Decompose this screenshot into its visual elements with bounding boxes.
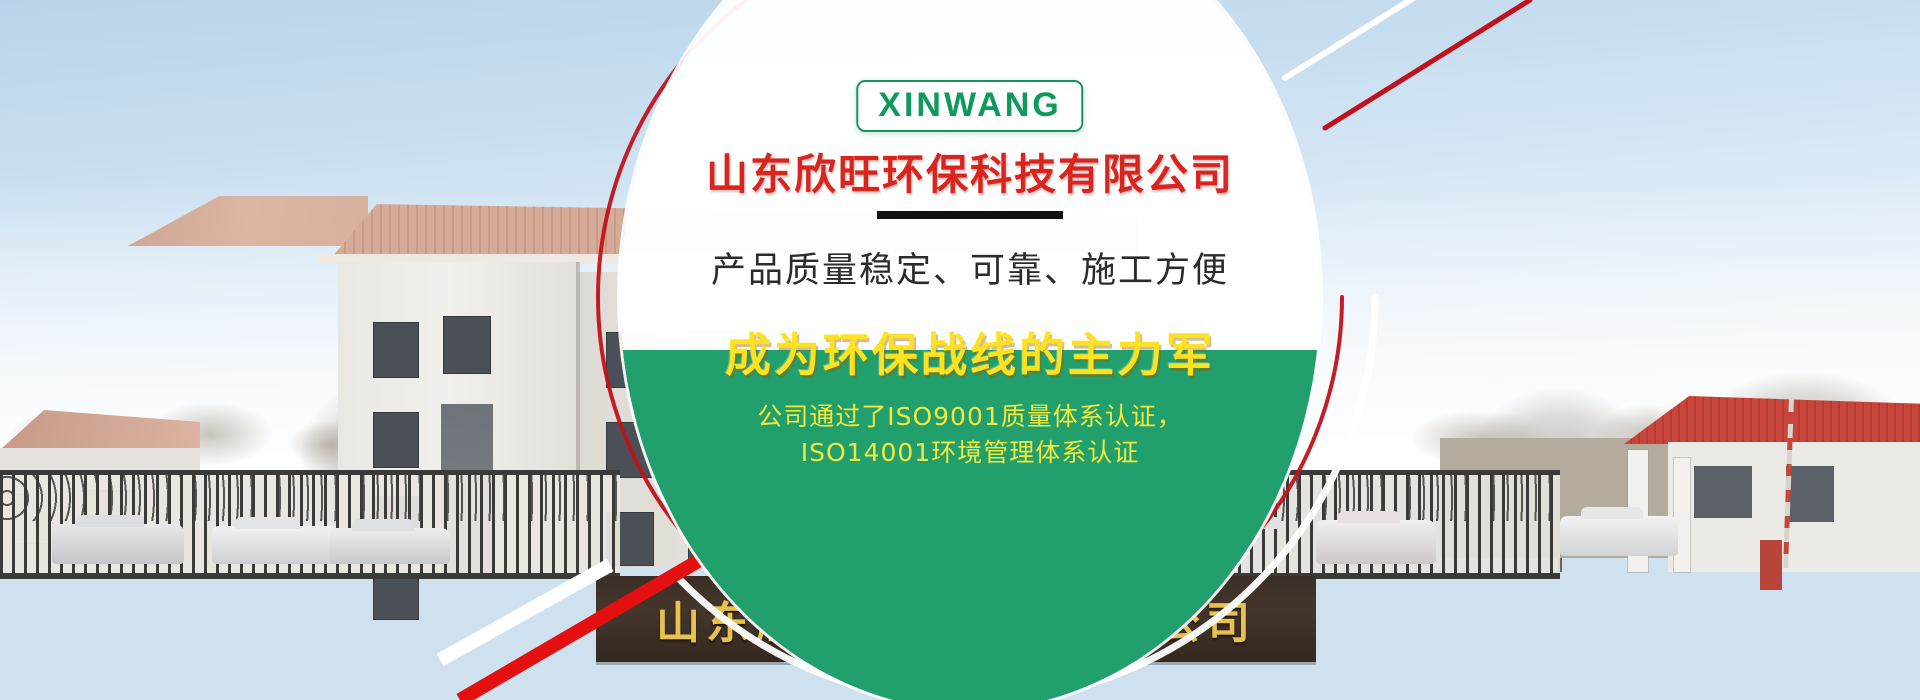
tagline: 产品质量稳定、可靠、施工方便 xyxy=(620,242,1320,293)
certification-line-2: ISO14001环境管理体系认证 xyxy=(620,435,1320,471)
banner-stage: 山东欣旺环保科技有限公司 XINWANG 山东欣旺环保科技有限公司 产品质量稳定… xyxy=(0,0,1920,700)
banner-content: XINWANG 山东欣旺环保科技有限公司 产品质量稳定、可靠、施工方便 成为环保… xyxy=(620,0,1320,700)
company-name: 山东欣旺环保科技有限公司 xyxy=(620,141,1320,202)
brand-badge-label: XINWANG xyxy=(878,88,1061,122)
barrier-post xyxy=(1760,540,1782,590)
slogan: 成为环保战线的主力军 xyxy=(620,319,1320,385)
brand-badge[interactable]: XINWANG xyxy=(856,80,1083,132)
title-divider xyxy=(877,211,1063,219)
parked-car xyxy=(330,528,450,564)
parked-car xyxy=(212,526,338,564)
parked-car xyxy=(1560,516,1678,556)
parked-car xyxy=(1316,520,1436,564)
gatehouse xyxy=(1668,396,1920,572)
certification-text: 公司通过了ISO9001质量体系认证， ISO14001环境管理体系认证 xyxy=(620,399,1320,470)
parked-car xyxy=(52,524,184,564)
certification-line-1: 公司通过了ISO9001质量体系认证， xyxy=(620,399,1320,435)
